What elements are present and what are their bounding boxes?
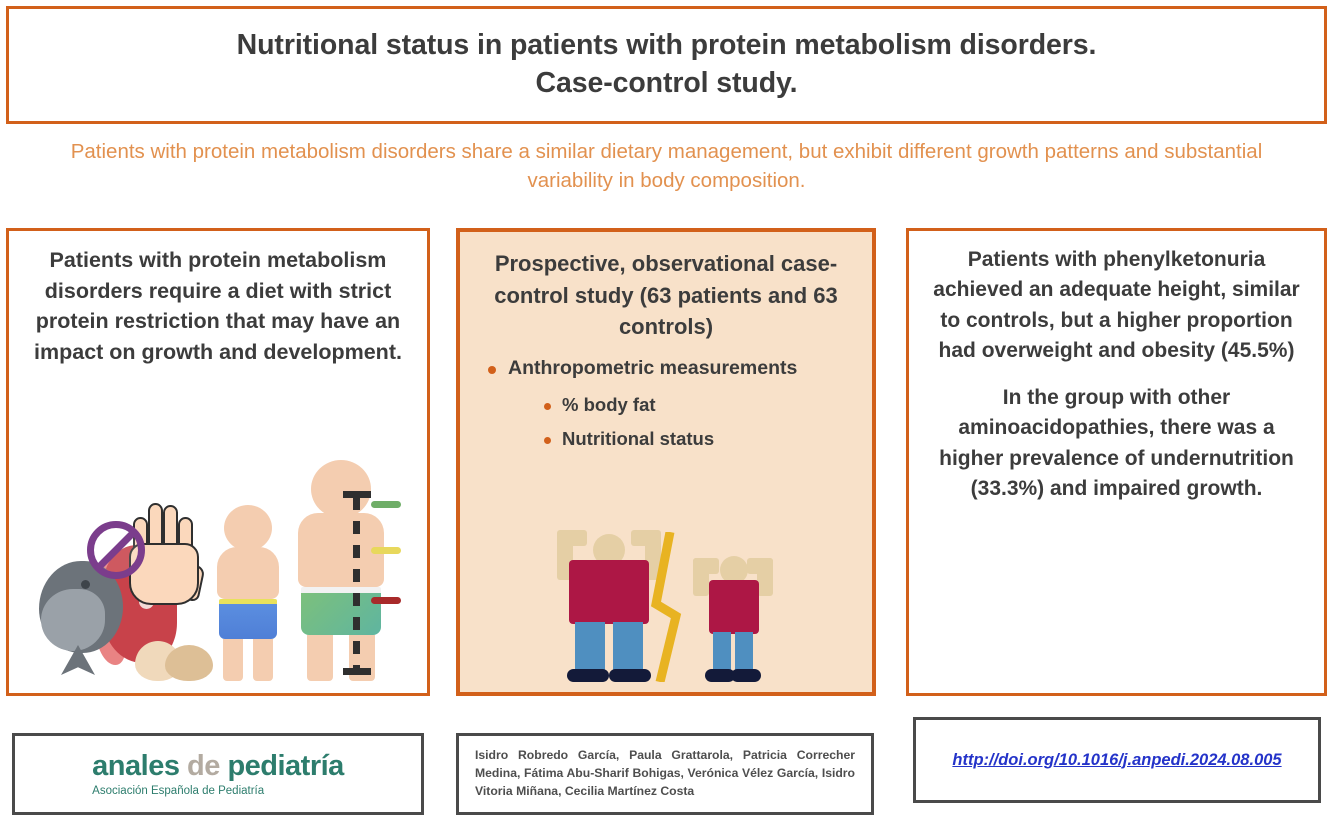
methods-bullet-list: Anthropometric measurements % body fat N… <box>476 357 856 462</box>
figure-leg <box>307 635 333 681</box>
panel-right-paragraph-2: In the group with other aminoacidopathie… <box>925 383 1308 505</box>
subtitle: Patients with protein metabolism disorde… <box>40 137 1293 195</box>
journal-logo: anales de pediatría Asociación Española … <box>92 752 344 797</box>
list-item-label: Nutritional status <box>562 428 714 450</box>
egg-icon <box>165 645 213 681</box>
control-figure-icon <box>687 542 779 682</box>
journal-logo-tagline: Asociación Española de Pediatría <box>92 785 344 797</box>
panel-background: Patients with protein metabolism disorde… <box>6 228 430 696</box>
figure-shirt <box>569 560 649 624</box>
ruler-bottom-cap <box>343 668 371 675</box>
fish-belly-icon <box>41 589 105 651</box>
logo-word-pediatria: pediatría <box>227 750 343 782</box>
list-item: Nutritional status <box>476 428 856 450</box>
logo-word-anales: anales <box>92 750 179 782</box>
author-list: Isidro Robredo García, Paula Grattarola,… <box>475 747 855 800</box>
figure-leg <box>253 639 273 681</box>
panel-left-heading: Patients with protein metabolism disorde… <box>25 245 411 367</box>
figure-torso <box>217 547 279 599</box>
bullet-dot-icon <box>488 366 496 374</box>
lightning-divider-icon <box>646 532 686 682</box>
authors-box: Isidro Robredo García, Paula Grattarola,… <box>456 733 874 815</box>
figure-head <box>224 505 272 551</box>
figure-pants <box>735 632 753 674</box>
case-control-comparison-illustration <box>551 530 781 682</box>
figure-shirt <box>709 580 759 634</box>
figure-leg <box>223 639 243 681</box>
panel-right-paragraph-1: Patients with phenylketonuria achieved a… <box>925 245 1308 367</box>
figure-pants <box>713 632 731 674</box>
prohibition-sign-icon <box>87 521 145 579</box>
figure-arm <box>757 558 773 596</box>
ruler-tick-yellow <box>371 547 401 554</box>
figure-shoe <box>609 669 651 682</box>
growth-comparison-illustration <box>211 485 407 681</box>
figure-pants <box>575 622 605 670</box>
bullet-dot-icon <box>544 403 551 410</box>
logo-word-de: de <box>187 750 220 782</box>
page-title: Nutritional status in patients with prot… <box>237 27 1097 102</box>
panel-left-illustration <box>25 367 411 683</box>
graphical-abstract-poster: Nutritional status in patients with prot… <box>0 0 1333 827</box>
figure-arm <box>693 558 709 596</box>
ruler-tick-red <box>371 597 401 604</box>
journal-logo-box: anales de pediatría Asociación Española … <box>12 733 424 815</box>
list-item-label: % body fat <box>562 394 656 416</box>
figure-shoe <box>731 669 761 682</box>
figure-pants <box>613 622 643 670</box>
panel-background: Prospective, observational case-control … <box>456 228 876 696</box>
height-ruler-icon <box>343 485 403 681</box>
list-item-label: Anthropometric measurements <box>508 357 797 380</box>
bullet-dot-icon <box>544 437 551 444</box>
child-figure-icon <box>211 505 285 681</box>
journal-logo-title: anales de pediatría <box>92 752 344 781</box>
panel-background: Patients with phenylketonuria achieved a… <box>906 228 1327 696</box>
list-item: Anthropometric measurements <box>476 357 856 380</box>
restricted-foods-illustration <box>31 501 221 681</box>
ruler-tick-green <box>371 501 401 508</box>
doi-link[interactable]: http://doi.org/10.1016/j.anpedi.2024.08.… <box>952 751 1281 770</box>
list-item: % body fat <box>476 394 856 416</box>
panel-center-illustration <box>476 462 856 682</box>
title-box: Nutritional status in patients with prot… <box>6 6 1327 124</box>
title-line-2: Case-control study. <box>535 67 797 99</box>
figure-shoe <box>567 669 609 682</box>
figure-shorts <box>219 599 277 639</box>
ruler-dashed-line <box>353 497 360 669</box>
doi-box: http://doi.org/10.1016/j.anpedi.2024.08.… <box>913 717 1321 803</box>
panel-center-heading: Prospective, observational case-control … <box>476 248 856 343</box>
fish-eye-icon <box>81 580 90 589</box>
title-line-1: Nutritional status in patients with prot… <box>237 29 1097 61</box>
figure-legs <box>219 639 277 681</box>
